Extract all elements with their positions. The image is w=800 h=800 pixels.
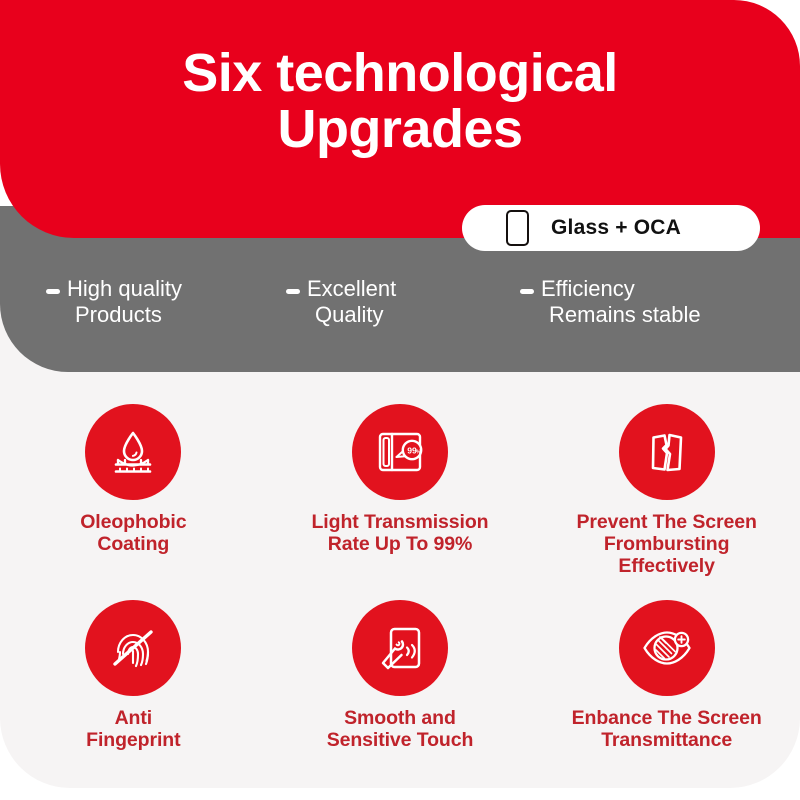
feature-label: Oleophobic Coating: [80, 511, 186, 555]
feature-label: Anti Fingeprint: [86, 707, 180, 751]
page-title: Six technological Upgrades: [0, 46, 800, 157]
feature-icon-circle: [85, 600, 181, 696]
infographic-page: Six technological Upgrades Glass + OCA H…: [0, 0, 800, 800]
feature-label: Prevent The Screen Frombursting Effectiv…: [577, 511, 757, 578]
svg-text:%: %: [416, 449, 421, 455]
bullet-dash-icon: [520, 289, 534, 294]
bullet-dash-icon: [46, 289, 60, 294]
screen-light-transmission-99-icon: 99 %: [371, 423, 429, 481]
water-droplet-coating-icon: [105, 424, 161, 480]
feature-grid: Oleophobic Coating 99 %: [0, 404, 800, 751]
band-bullet-text: Excellent Quality: [307, 276, 396, 328]
cracked-screen-icon: [640, 425, 694, 479]
feature-item-sensitive-touch: Smooth and Sensitive Touch: [267, 600, 534, 751]
feature-icon-circle: [85, 404, 181, 500]
feature-icon-circle: [352, 600, 448, 696]
glass-oca-label: Glass + OCA: [551, 216, 681, 240]
band-bullet-line: Efficiency: [541, 276, 701, 302]
band-bullet-line: High quality: [67, 276, 182, 302]
feature-item-enhance-transmittance: Enbance The Screen Transmittance: [533, 600, 800, 751]
band-bullet-list: High quality Products Excellent Quality …: [0, 276, 800, 328]
eye-plus-clarity-icon: [638, 619, 696, 677]
feature-item-prevent-bursting: Prevent The Screen Frombursting Effectiv…: [533, 404, 800, 578]
feature-icon-circle: [619, 404, 715, 500]
finger-touch-screen-icon: [372, 620, 428, 676]
no-fingerprint-icon: [104, 619, 162, 677]
band-bullet-item-3: Efficiency Remains stable: [500, 276, 800, 328]
feature-item-anti-fingerprint: Anti Fingeprint: [0, 600, 267, 751]
phone-glass-icon: [506, 210, 529, 246]
header-banner: Six technological Upgrades: [0, 0, 800, 238]
band-bullet-item-1: High quality Products: [0, 276, 278, 328]
feature-label: Enbance The Screen Transmittance: [572, 707, 762, 751]
band-bullet-text: High quality Products: [67, 276, 182, 328]
band-bullet-text: Efficiency Remains stable: [541, 276, 701, 328]
band-bullet-line: Products: [67, 302, 182, 328]
feature-item-oleophobic-coating: Oleophobic Coating: [0, 404, 267, 578]
glass-oca-badge: Glass + OCA: [462, 205, 760, 251]
band-bullet-line: Remains stable: [541, 302, 701, 328]
page-title-line-1: Six technological: [0, 46, 800, 102]
feature-icon-circle: [619, 600, 715, 696]
feature-icon-circle: 99 %: [352, 404, 448, 500]
bullet-dash-icon: [286, 289, 300, 294]
feature-label: Smooth and Sensitive Touch: [327, 707, 474, 751]
band-bullet-line: Quality: [307, 302, 396, 328]
band-bullet-line: Excellent: [307, 276, 396, 302]
page-title-line-2: Upgrades: [0, 102, 800, 158]
feature-label: Light Transmission Rate Up To 99%: [312, 511, 489, 555]
feature-item-light-transmission: 99 % Light Transmission Rate Up To 99%: [267, 404, 534, 578]
band-bullet-item-2: Excellent Quality: [278, 276, 500, 328]
